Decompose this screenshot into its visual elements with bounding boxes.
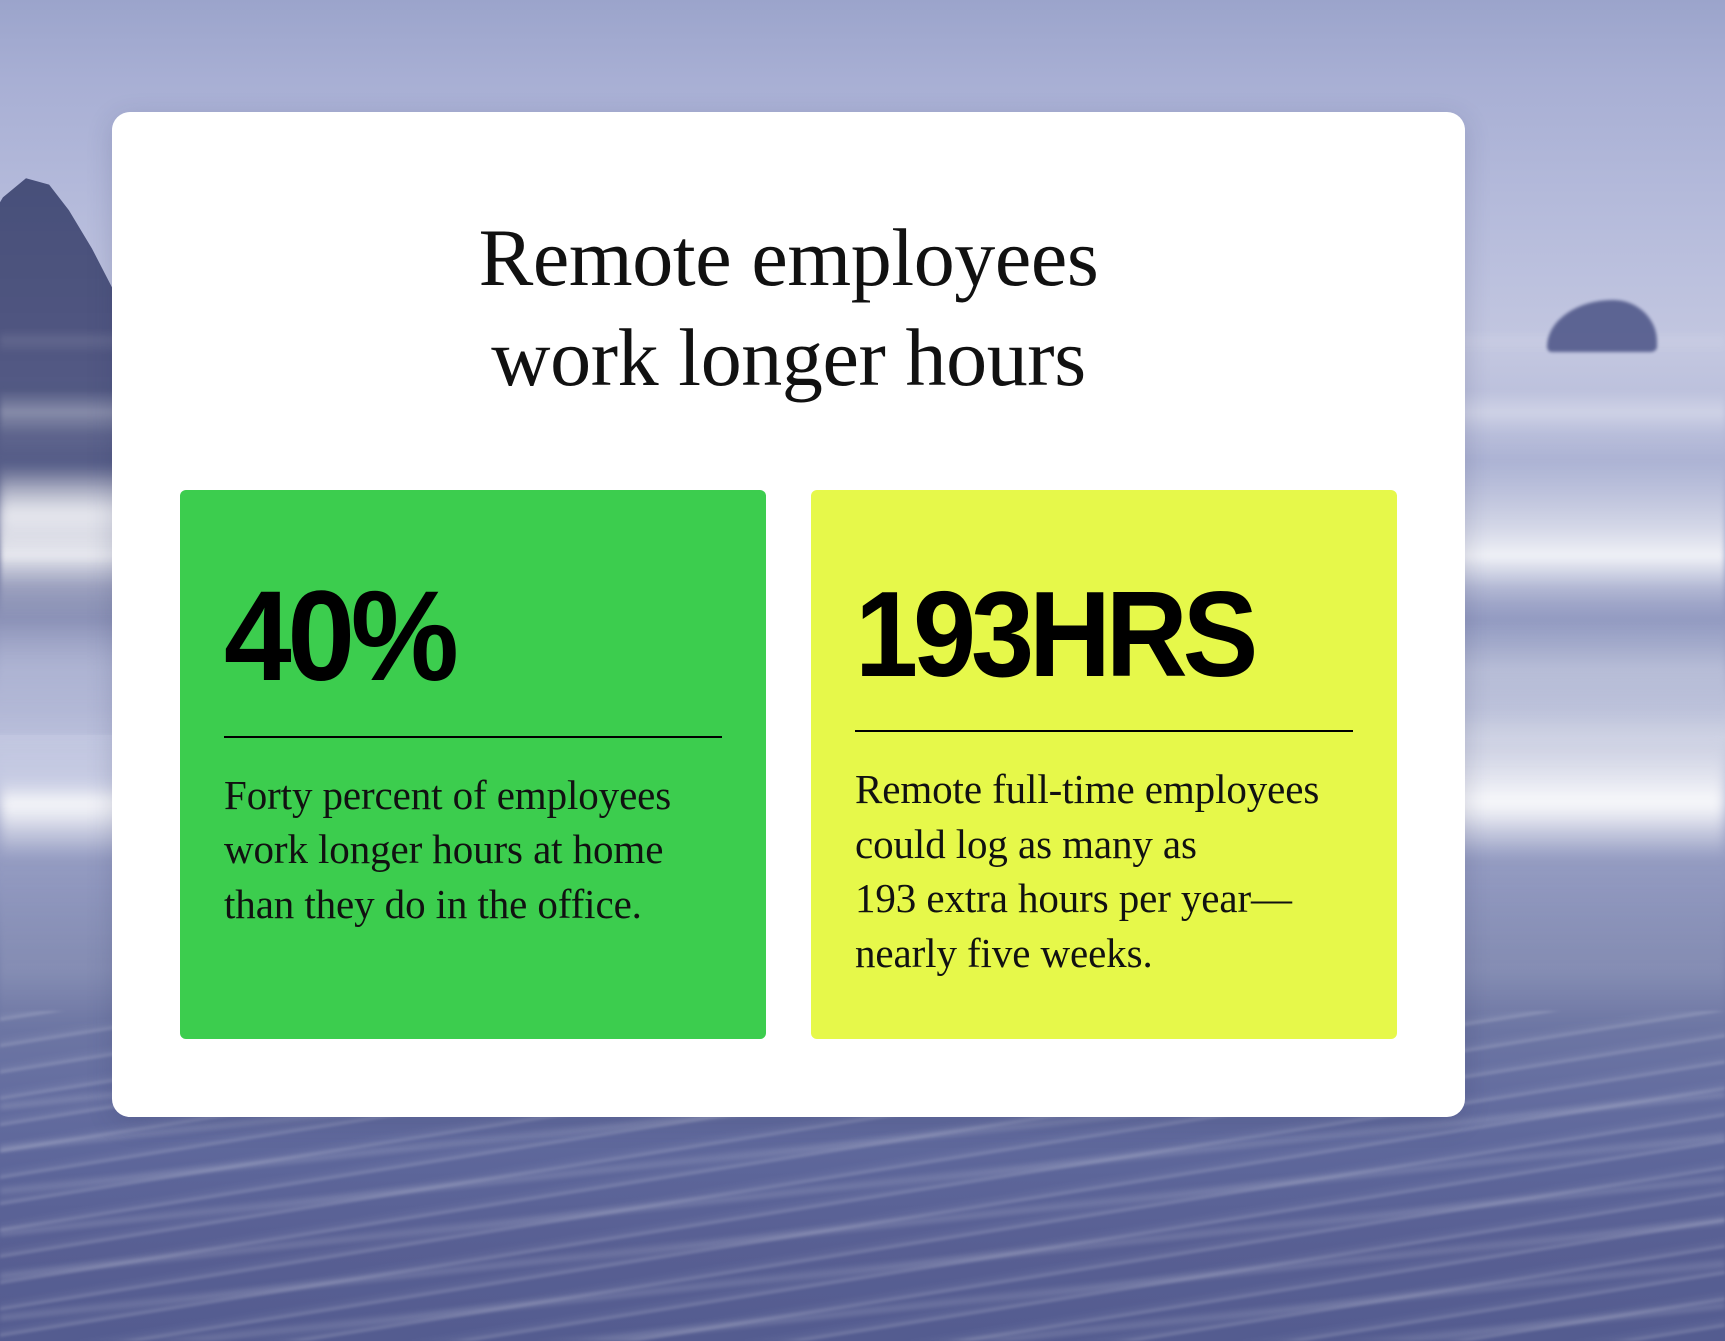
stat-body-line: than they do in the office. [224, 877, 722, 932]
stat-body-line: work longer hours at home [224, 822, 722, 877]
stat-body-line: Forty percent of employees [224, 768, 722, 823]
stat-description-193-hrs: Remote full-time employees could log as … [855, 762, 1353, 980]
stat-body-line: 193 extra hours per year— [855, 871, 1353, 926]
stat-description-40-percent: Forty percent of employees work longer h… [224, 768, 722, 932]
stat-divider-rule [855, 730, 1353, 732]
stat-body-line: could log as many as [855, 817, 1353, 872]
headline-line-1: Remote employees [202, 208, 1375, 308]
wave-streaks-secondary [0, 1091, 1725, 1341]
stat-body-line: Remote full-time employees [855, 762, 1353, 817]
page-title: Remote employees work longer hours [112, 208, 1465, 408]
stat-figure-193-hrs: 193HRS [855, 578, 1318, 690]
stat-card-group: 40% Forty percent of employees work long… [112, 490, 1465, 1039]
infographic-card: Remote employees work longer hours 40% F… [112, 112, 1465, 1117]
stat-card-193-hrs: 193HRS Remote full-time employees could … [811, 490, 1397, 1039]
stat-divider-rule [224, 736, 722, 738]
stat-card-40-percent: 40% Forty percent of employees work long… [180, 490, 766, 1039]
headline-line-2: work longer hours [202, 308, 1375, 408]
stat-figure-40-percent: 40% [224, 578, 697, 696]
stat-body-line: nearly five weeks. [855, 926, 1353, 981]
distant-headland-shape [1547, 300, 1657, 352]
